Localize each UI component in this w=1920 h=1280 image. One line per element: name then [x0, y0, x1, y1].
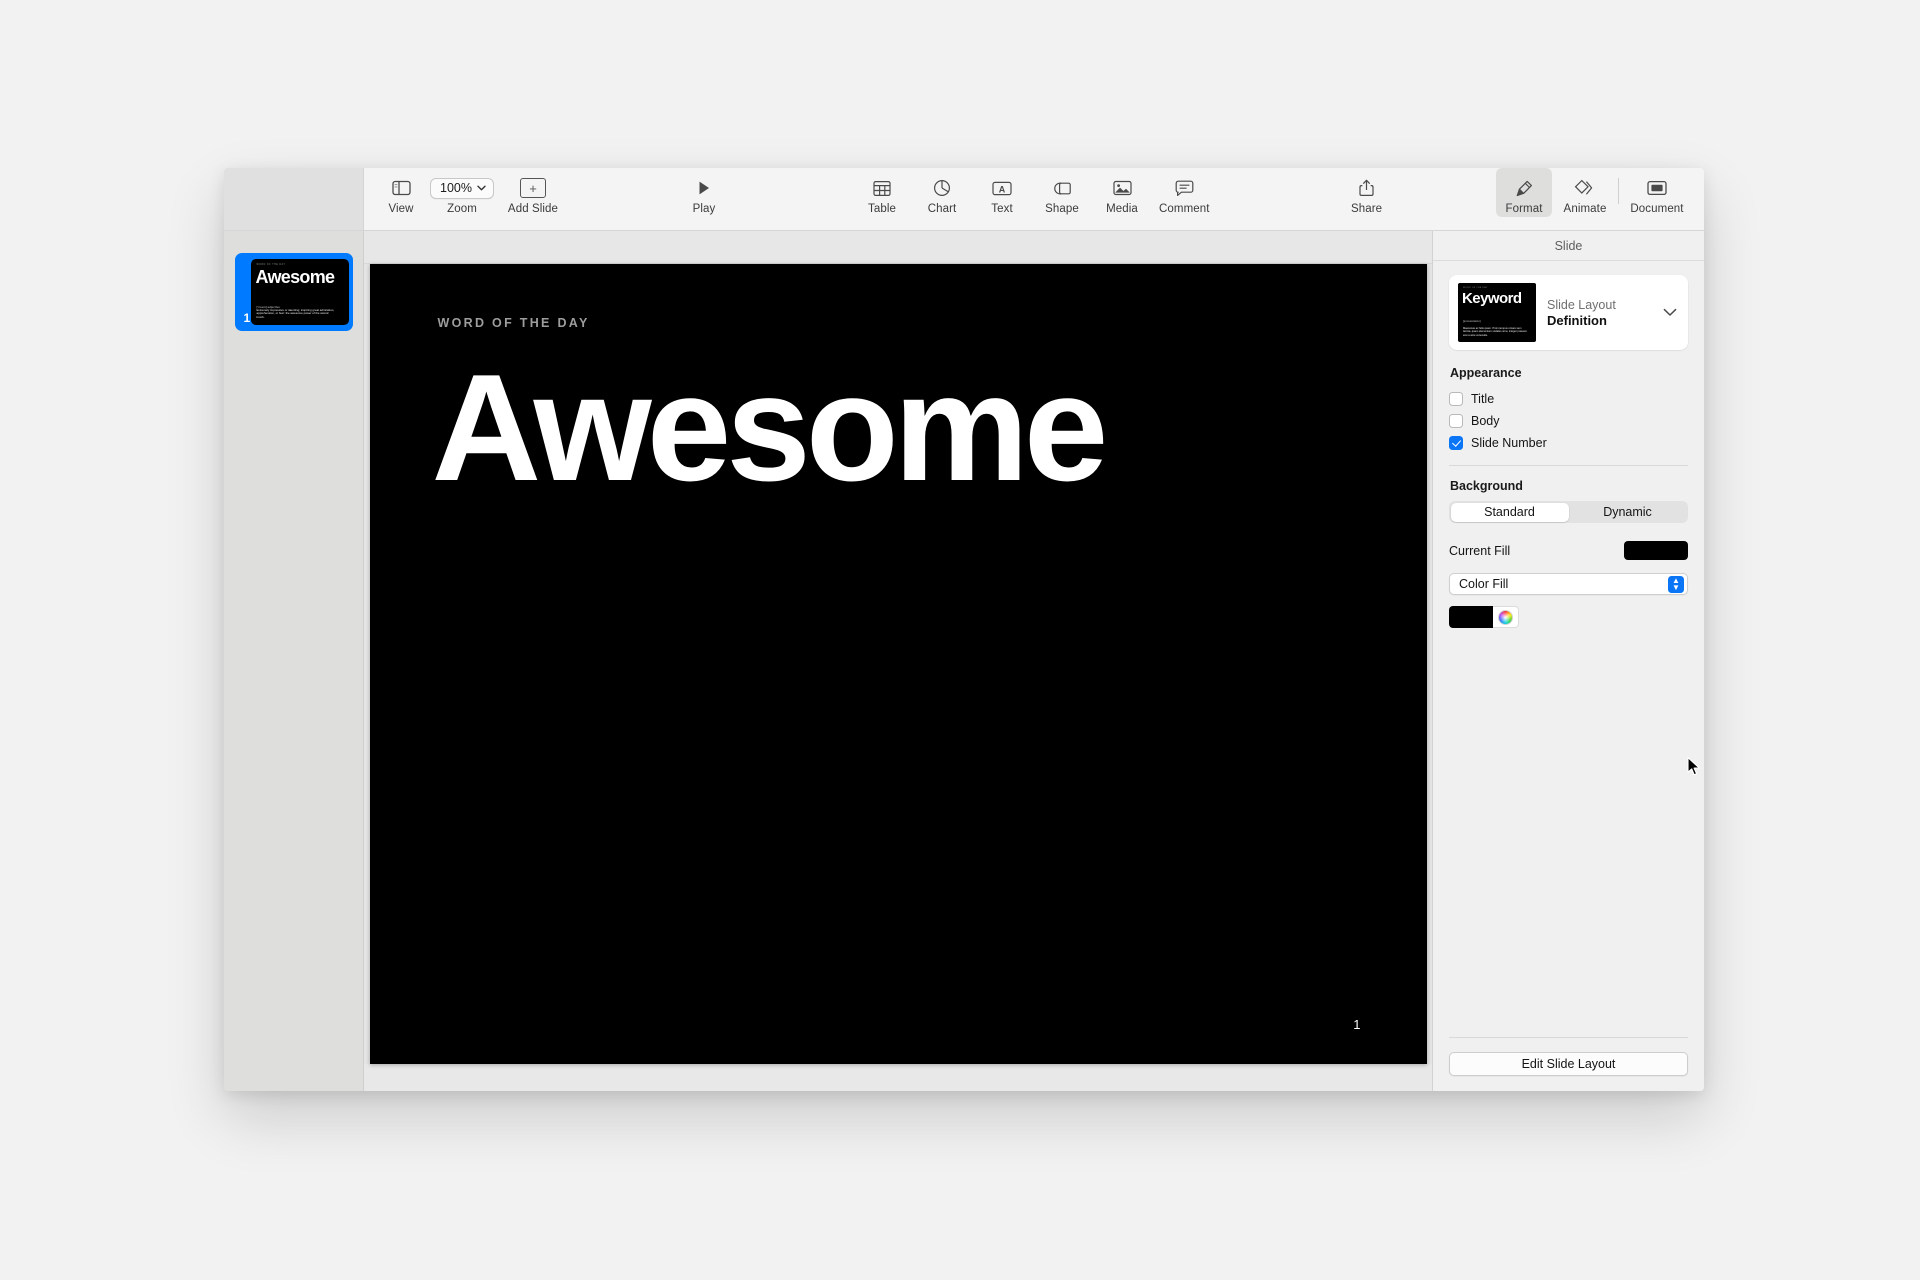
desktop-background: View 100% Zoom +	[0, 0, 1920, 1280]
appearance-option-slide-number[interactable]: Slide Number	[1449, 432, 1688, 453]
inspector-header-title: Slide	[1433, 231, 1704, 261]
layout-thumb-phonetic: [pronunciation]	[1463, 320, 1481, 323]
svg-text:A: A	[999, 184, 1006, 194]
photo-icon	[1113, 176, 1132, 200]
thumb-kicker-text: WORD OF THE DAY	[257, 264, 286, 266]
toolbar-play-label: Play	[693, 203, 716, 215]
table-grid-icon	[873, 176, 891, 200]
toolbar-table-label: Table	[868, 203, 896, 215]
edit-slide-layout-button[interactable]: Edit Slide Layout	[1449, 1052, 1688, 1076]
zoom-percent-dropdown[interactable]: 100%	[430, 176, 494, 200]
segment-dynamic[interactable]: Dynamic	[1569, 503, 1687, 522]
text-box-icon: A	[992, 176, 1012, 200]
slide-kicker[interactable]: WORD OF THE DAY	[438, 316, 590, 330]
toolbar-share-label: Share	[1351, 203, 1382, 215]
chevron-down-icon[interactable]	[1663, 304, 1679, 322]
window-body: 1 WORD OF THE DAY Awesome ['ôsəm] adject…	[224, 231, 1704, 1091]
slide-thumbnail-number: 1	[244, 311, 251, 325]
inspector-divider-1	[1449, 465, 1688, 466]
slide-thumbnail-preview: WORD OF THE DAY Awesome ['ôsəm] adjectiv…	[251, 259, 349, 325]
toolbar-chart-button[interactable]: Chart	[919, 168, 965, 215]
pie-chart-icon	[933, 176, 951, 200]
slide-layout-value: Definition	[1547, 313, 1652, 328]
current-fill-label: Current Fill	[1449, 544, 1510, 558]
checkbox-slide-number-label: Slide Number	[1471, 436, 1547, 450]
toolbar-document-button[interactable]: Document	[1621, 168, 1693, 215]
checkbox-slide-number[interactable]	[1449, 436, 1463, 450]
toolbar-shape-label: Shape	[1045, 203, 1079, 215]
color-wheel-button[interactable]	[1493, 606, 1519, 628]
keynote-window: View 100% Zoom +	[224, 168, 1704, 1091]
toolbar-format-button[interactable]: Format	[1496, 168, 1552, 217]
appearance-option-title[interactable]: Title	[1449, 388, 1688, 409]
canvas-area: WORD OF THE DAY Awesome ['ôsəm] adjectiv…	[364, 231, 1432, 1091]
toolbar-media-button[interactable]: Media	[1099, 168, 1145, 215]
toolbar-table-button[interactable]: Table	[859, 168, 905, 215]
format-inspector: Slide WORD OF THE DAY Keyword [pronuncia…	[1432, 231, 1704, 1091]
toolbar-text-button[interactable]: A Text	[979, 168, 1025, 215]
toolbar-view-button[interactable]: View	[378, 168, 424, 215]
slide-title[interactable]: Awesome	[432, 352, 1104, 504]
slide-thumbnail-1[interactable]: 1 WORD OF THE DAY Awesome ['ôsəm] adject…	[235, 253, 353, 331]
slide-layout-thumbnail: WORD OF THE DAY Keyword [pronunciation] …	[1458, 283, 1536, 342]
shapes-icon	[1053, 176, 1072, 200]
diamonds-icon	[1574, 176, 1596, 200]
slide-layout-card[interactable]: WORD OF THE DAY Keyword [pronunciation] …	[1449, 275, 1688, 350]
fill-color-row	[1449, 606, 1688, 628]
checkbox-title[interactable]	[1449, 392, 1463, 406]
background-section-title: Background	[1450, 479, 1688, 493]
toolbar-comment-button[interactable]: Comment	[1159, 168, 1210, 215]
current-fill-swatch[interactable]	[1624, 541, 1688, 560]
document-icon	[1647, 176, 1667, 200]
slide-number-badge: 1	[1353, 1017, 1360, 1032]
segment-standard[interactable]: Standard	[1451, 503, 1569, 522]
slide-layout-label: Slide Layout	[1547, 298, 1652, 312]
layout-thumb-title: Keyword	[1462, 291, 1522, 306]
toolbar-navigator-spacer	[224, 168, 364, 230]
appearance-section-title: Appearance	[1450, 366, 1688, 380]
zoom-value: 100%	[440, 181, 472, 195]
slide-canvas[interactable]: WORD OF THE DAY Awesome ['ôsəm] adjectiv…	[370, 264, 1427, 1064]
checkbox-body[interactable]	[1449, 414, 1463, 428]
toolbar-animate-button[interactable]: Animate	[1554, 168, 1616, 215]
fill-type-value: Color Fill	[1459, 577, 1668, 591]
toolbar-media-label: Media	[1106, 203, 1138, 215]
layout-thumb-kicker: WORD OF THE DAY	[1463, 287, 1488, 289]
checkbox-body-label: Body	[1471, 414, 1500, 428]
toolbar-chart-label: Chart	[928, 203, 957, 215]
plus-icon: +	[520, 176, 546, 200]
toolbar-document-label: Document	[1630, 203, 1683, 215]
chevron-down-icon	[477, 185, 486, 191]
toolbar-add-slide-button[interactable]: + Add Slide	[500, 168, 566, 215]
inspector-content: WORD OF THE DAY Keyword [pronunciation] …	[1433, 261, 1704, 1037]
thumb-title-text: Awesome	[256, 268, 335, 286]
inspector-footer: Edit Slide Layout	[1433, 1037, 1704, 1091]
sidebar-view-icon	[392, 176, 411, 200]
fill-color-chip[interactable]	[1449, 606, 1493, 628]
paintbrush-icon	[1515, 176, 1534, 200]
share-upload-icon	[1359, 176, 1374, 200]
background-mode-segmented-control[interactable]: Standard Dynamic	[1449, 501, 1688, 523]
layout-thumb-body: Maecenas ac felis quam. Proin tempus orn…	[1463, 327, 1527, 337]
toolbar-zoom-control[interactable]: 100% Zoom	[426, 168, 498, 215]
toolbar-view-label: View	[388, 203, 413, 215]
toolbar-comment-label: Comment	[1159, 203, 1210, 215]
toolbar-zoom-label: Zoom	[447, 203, 477, 215]
appearance-option-body[interactable]: Body	[1449, 410, 1688, 431]
thumb-body-text: Extremely impressive or daunting; inspir…	[257, 309, 335, 320]
current-fill-row: Current Fill	[1449, 541, 1688, 560]
toolbar-add-slide-label: Add Slide	[508, 203, 558, 215]
toolbar-format-label: Format	[1505, 203, 1542, 215]
stepper-icon[interactable]: ▲▼	[1668, 576, 1684, 593]
toolbar: View 100% Zoom +	[224, 168, 1704, 231]
canvas-top-rule	[364, 231, 1432, 264]
checkbox-title-label: Title	[1471, 392, 1494, 406]
color-wheel-icon	[1498, 610, 1513, 625]
canvas-bottom-bar	[364, 1064, 1432, 1091]
inspector-divider-2	[1449, 1037, 1688, 1038]
toolbar-text-label: Text	[991, 203, 1013, 215]
toolbar-share-button[interactable]: Share	[1344, 168, 1390, 215]
canvas-stage[interactable]: WORD OF THE DAY Awesome ['ôsəm] adjectiv…	[364, 264, 1432, 1064]
fill-type-select[interactable]: Color Fill ▲▼	[1449, 573, 1688, 595]
toolbar-animate-label: Animate	[1564, 203, 1607, 215]
toolbar-shape-button[interactable]: Shape	[1039, 168, 1085, 215]
speech-bubble-icon	[1175, 176, 1194, 200]
toolbar-play-button[interactable]: Play	[681, 168, 727, 215]
toolbar-divider	[1618, 178, 1619, 204]
slide-navigator[interactable]: 1 WORD OF THE DAY Awesome ['ôsəm] adject…	[224, 231, 364, 1091]
slide-layout-meta: Slide Layout Definition	[1547, 298, 1652, 328]
play-triangle-icon	[697, 176, 711, 200]
